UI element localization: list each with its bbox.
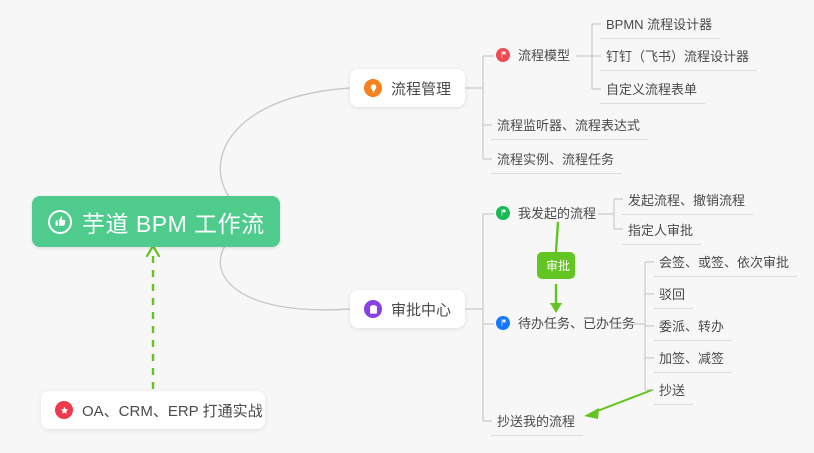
lightbulb-icon	[364, 79, 382, 97]
branch-node-process-management[interactable]: 流程管理	[350, 69, 465, 107]
node-process-model[interactable]: 流程模型	[492, 42, 578, 69]
node-my-initiated-process[interactable]: 我发起的流程	[492, 200, 604, 227]
flag-icon	[496, 48, 510, 62]
star-icon	[55, 401, 73, 419]
node-label-my-initiated-process: 我发起的流程	[518, 203, 596, 222]
node-todo-done-tasks[interactable]: 待办任务、已办任务	[492, 310, 643, 337]
branch-label-process-management: 流程管理	[391, 78, 451, 99]
thumbs-up-icon	[48, 210, 72, 234]
node-cc-to-me-process[interactable]: 抄送我的流程	[491, 407, 583, 436]
node-process-instance-task[interactable]: 流程实例、流程任务	[491, 145, 622, 174]
node-cc[interactable]: 抄送	[653, 376, 693, 405]
mindmap-canvas: 芋道 BPM 工作流 流程管理 流程模型 BPMN 流程设计器 钉钉（飞书）流程…	[0, 0, 814, 453]
bottom-card-label: OA、CRM、ERP 打通实战	[82, 400, 263, 421]
node-label-process-model: 流程模型	[518, 45, 570, 64]
root-label: 芋道 BPM 工作流	[82, 205, 265, 239]
node-bpmn-designer[interactable]: BPMN 流程设计器	[600, 10, 720, 39]
node-dingtalk-feishu-designer[interactable]: 钉钉（飞书）流程设计器	[600, 42, 757, 71]
node-delegate-transfer[interactable]: 委派、转办	[653, 312, 732, 341]
flag-icon	[496, 316, 510, 330]
bottom-card-integration[interactable]: OA、CRM、ERP 打通实战	[41, 391, 265, 429]
node-start-cancel-process[interactable]: 发起流程、撤销流程	[622, 186, 753, 215]
node-countersign-orsign-sequential[interactable]: 会签、或签、依次审批	[653, 248, 797, 277]
root-node[interactable]: 芋道 BPM 工作流	[32, 196, 280, 247]
approval-tag[interactable]: 审批	[537, 252, 575, 279]
branch-label-approval-center: 审批中心	[391, 299, 451, 320]
node-reject[interactable]: 驳回	[653, 280, 693, 309]
flag-icon	[496, 206, 510, 220]
node-process-listener-expression[interactable]: 流程监听器、流程表达式	[491, 111, 648, 140]
node-custom-process-form[interactable]: 自定义流程表单	[600, 75, 705, 104]
node-add-remove-sign[interactable]: 加签、减签	[653, 344, 732, 373]
node-designated-approver[interactable]: 指定人审批	[622, 216, 701, 245]
branch-node-approval-center[interactable]: 审批中心	[350, 290, 465, 328]
node-label-todo-done-tasks: 待办任务、已办任务	[518, 313, 635, 332]
clipboard-icon	[364, 300, 382, 318]
